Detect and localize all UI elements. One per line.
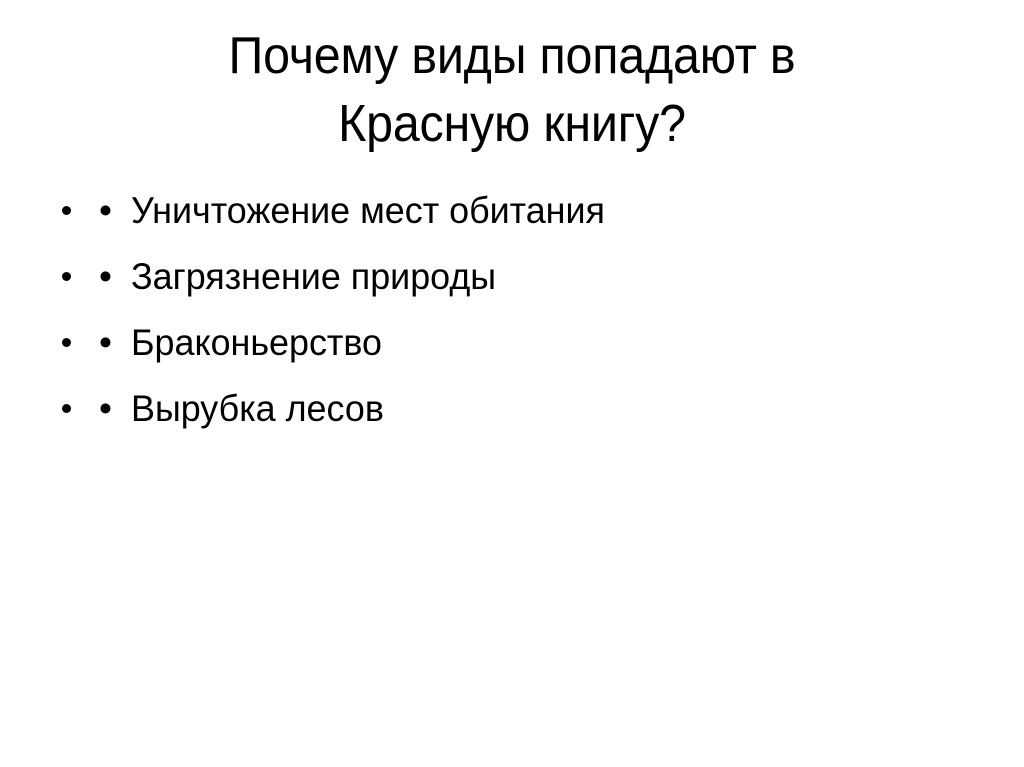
list-item-label: Вырубка лесов (131, 386, 384, 432)
inline-bullet-icon: • (99, 386, 112, 432)
list-item-label: Уничтожение мест обитания (131, 188, 605, 234)
inline-bullet-icon: • (99, 254, 112, 300)
bullet-disc-icon (62, 338, 71, 347)
bullet-disc-icon (62, 404, 71, 413)
list-item: • Загрязнение природы (56, 254, 956, 320)
inline-bullet-icon: • (99, 320, 112, 366)
list-item-label: Загрязнение природы (131, 254, 496, 300)
list-item: • Уничтожение мест обитания (56, 188, 956, 254)
bullet-disc-icon (62, 272, 71, 281)
presentation-slide: Почему виды попадают в Красную книгу? • … (0, 0, 1024, 767)
inline-bullet-icon: • (99, 188, 112, 234)
slide-title: Почему виды попадают в Красную книгу? (0, 22, 1024, 158)
slide-title-line-1: Почему виды попадают в (36, 22, 988, 90)
list-item-label: Браконьерство (131, 320, 382, 366)
slide-title-line-2: Красную книгу? (36, 90, 988, 158)
bullet-list: • Уничтожение мест обитания • Загрязнени… (56, 188, 956, 452)
list-item: • Вырубка лесов (56, 386, 956, 452)
list-item: • Браконьерство (56, 320, 956, 386)
bullet-disc-icon (62, 206, 71, 215)
